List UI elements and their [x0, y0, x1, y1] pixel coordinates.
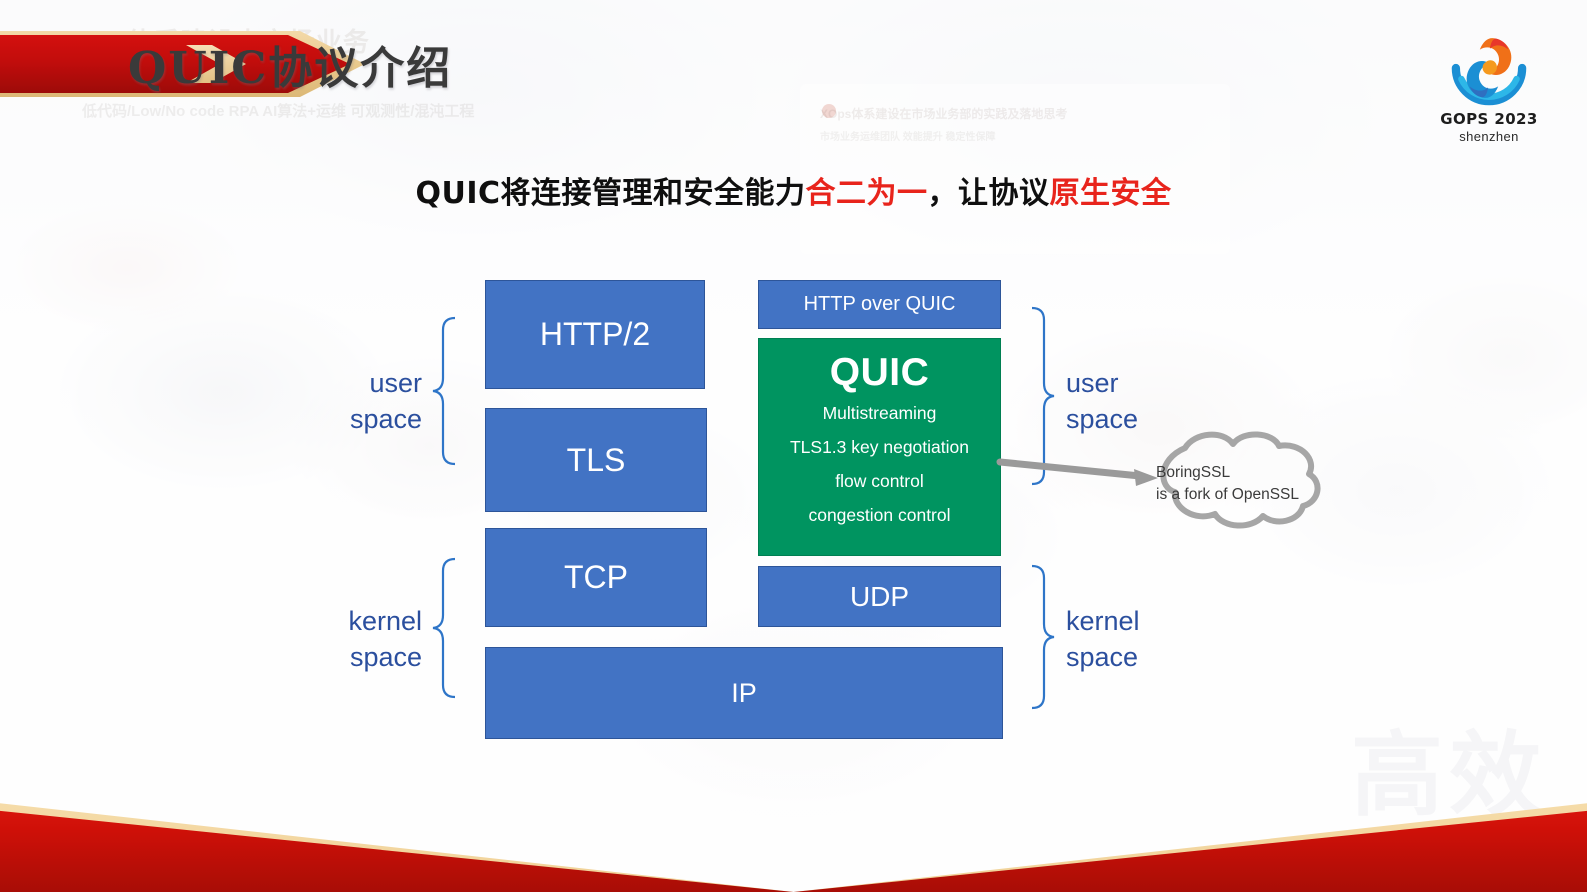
- box-ip-label: IP: [731, 678, 757, 709]
- box-quic-title: QUIC: [830, 351, 930, 396]
- box-ip: IP: [485, 647, 1003, 739]
- box-udp: UDP: [758, 566, 1001, 627]
- quic-feature-multistreaming: Multistreaming: [823, 396, 937, 430]
- page-title: QUIC协议介绍: [128, 32, 452, 96]
- gops-logo: GOPS 2023 shenzhen: [1433, 22, 1545, 144]
- subtitle-part2: ，让协议: [928, 176, 1050, 211]
- quic-feature-congestion-control: congestion control: [808, 498, 950, 532]
- box-quic: QUIC Multistreaming TLS1.3 key negotiati…: [758, 338, 1001, 556]
- subtitle-highlight1: 合二为一: [806, 176, 928, 211]
- logo-line1: GOPS 2023: [1433, 110, 1545, 128]
- footer-red-chevron: [0, 788, 1587, 892]
- box-udp-label: UDP: [850, 581, 909, 613]
- subtitle-part1: QUIC将连接管理和安全能力: [415, 176, 805, 211]
- label-kernel-space-right: kernel space: [1066, 604, 1206, 675]
- quic-feature-tls13: TLS1.3 key negotiation: [790, 430, 969, 464]
- box-http-over-quic-label: HTTP over QUIC: [804, 293, 956, 316]
- subtitle-highlight2: 原生安全: [1050, 176, 1172, 211]
- ghost-bullet-icon: [822, 104, 836, 118]
- box-tcp-label: TCP: [564, 559, 628, 596]
- box-http2-label: HTTP/2: [540, 316, 650, 353]
- callout-text: BoringSSL is a fork of OpenSSL: [1156, 462, 1299, 507]
- slide-subtitle: QUIC将连接管理和安全能力合二为一，让协议原生安全: [0, 168, 1587, 212]
- box-http-over-quic: HTTP over QUIC: [758, 280, 1001, 329]
- gops-swirl-logo-icon: [1443, 22, 1535, 114]
- box-tls: TLS: [485, 408, 707, 512]
- label-kernel-space-left: kernel space: [302, 604, 422, 675]
- quic-feature-flow-control: flow control: [835, 464, 924, 498]
- footer-banner: [0, 772, 1587, 892]
- box-tcp: TCP: [485, 528, 707, 627]
- label-user-space-right: user space: [1066, 366, 1196, 437]
- label-user-space-left: user space: [312, 366, 422, 437]
- slide-canvas: XOps体系建设中市场业务 低代码/Low/No code RPA AI算法+运…: [0, 0, 1587, 892]
- box-http2: HTTP/2: [485, 280, 705, 389]
- logo-line2: shenzhen: [1433, 129, 1545, 144]
- box-tls-label: TLS: [567, 442, 626, 479]
